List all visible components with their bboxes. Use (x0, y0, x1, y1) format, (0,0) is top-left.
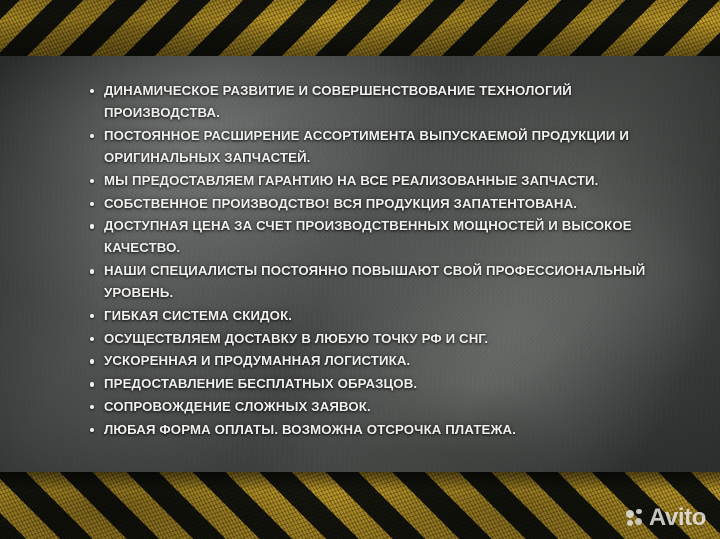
poster: Динамическое развитие и совершенствовани… (0, 0, 720, 539)
avito-wordmark: Avito (649, 506, 706, 530)
avito-dots-icon (626, 509, 645, 528)
list-item: Наши специалисты постоянно повышают свой… (88, 260, 668, 304)
list-item: Постоянное расширение ассортимента выпус… (88, 125, 668, 169)
list-item: Сопровождение сложных заявок. (88, 396, 668, 418)
list-item: Предоставление бесплатных образцов. (88, 373, 668, 395)
list-item: Собственное производство! Вся продукция … (88, 193, 668, 215)
list-item: Любая форма оплаты. Возможна отсрочка пл… (88, 419, 668, 441)
list-item: Доступная цена за счет производственных … (88, 215, 668, 259)
benefits-section: Динамическое развитие и совершенствовани… (88, 80, 668, 441)
list-item: Динамическое развитие и совершенствовани… (88, 80, 668, 124)
avito-watermark: Avito (626, 506, 706, 530)
benefits-list: Динамическое развитие и совершенствовани… (88, 80, 668, 441)
list-item: Гибкая система скидок. (88, 305, 668, 327)
hazard-shade-top (0, 0, 720, 56)
hazard-shade-bottom (0, 472, 720, 539)
list-item: Ускоренная и продуманная логистика. (88, 350, 668, 372)
hazard-stripe-band-top (0, 0, 720, 56)
hazard-stripe-band-bottom (0, 472, 720, 539)
list-item: Мы предоставляем гарантию на все реализо… (88, 170, 668, 192)
list-item: Осуществляем доставку в любую точку РФ и… (88, 328, 668, 350)
